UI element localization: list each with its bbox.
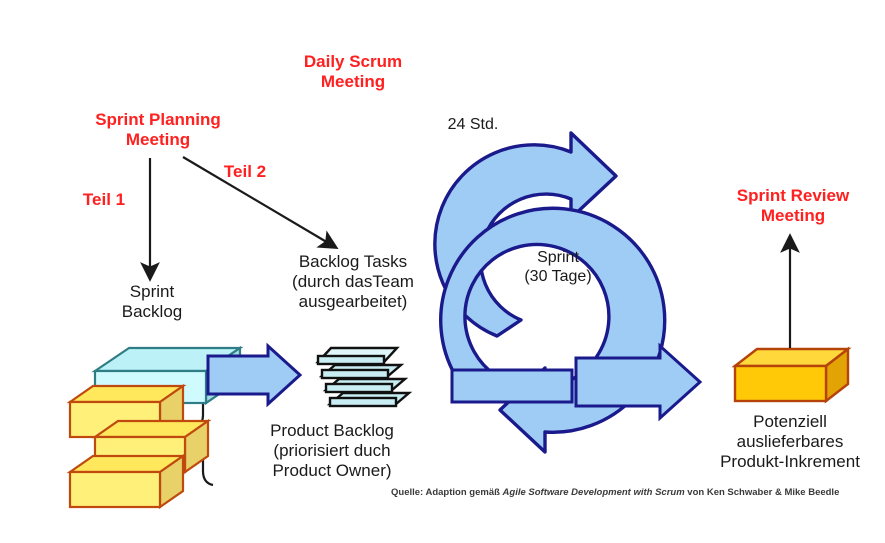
- backlog-to-tasks-arrow: [208, 346, 300, 404]
- label-sprint-review-meeting: Sprint Review Meeting: [718, 186, 868, 226]
- source-prefix: Quelle: Adaption gemäß: [391, 487, 503, 498]
- label-product-backlog: Product Backlog (priorisiert duch Produc…: [232, 421, 432, 481]
- label-cycle-sprint: Sprint (30 Tage): [498, 249, 618, 287]
- scrum-process-diagram: Sprint Planning Meeting Teil 1 Teil 2 Da…: [0, 0, 885, 543]
- product-backlog-box-3: [70, 456, 183, 507]
- product-increment-box: [735, 349, 848, 401]
- sprint-cycle-arrow: [441, 208, 665, 452]
- label-cycle-24-std: 24 Std.: [418, 116, 528, 135]
- source-citation: Quelle: Adaption gemäß Agile Software De…: [391, 487, 839, 498]
- label-teil-2: Teil 2: [215, 162, 275, 182]
- label-daily-scrum-meeting: Daily Scrum Meeting: [278, 52, 428, 92]
- label-teil-1: Teil 1: [74, 190, 134, 210]
- label-sprint-planning-meeting: Sprint Planning Meeting: [78, 110, 238, 150]
- label-sprint-backlog: Sprint Backlog: [92, 282, 212, 322]
- source-work-title: Agile Software Development with Scrum: [503, 487, 685, 498]
- label-product-increment: Potenziell auslieferbares Produkt-Inkrem…: [695, 412, 885, 472]
- cycle-bottom-band: [452, 370, 572, 402]
- sprint-to-increment-arrow: [576, 346, 700, 418]
- label-backlog-tasks: Backlog Tasks (durch dasTeam ausgearbeit…: [258, 252, 448, 312]
- source-suffix: von Ken Schwaber & Mike Beedle: [685, 487, 840, 498]
- backlog-tasks-papers: [318, 348, 409, 406]
